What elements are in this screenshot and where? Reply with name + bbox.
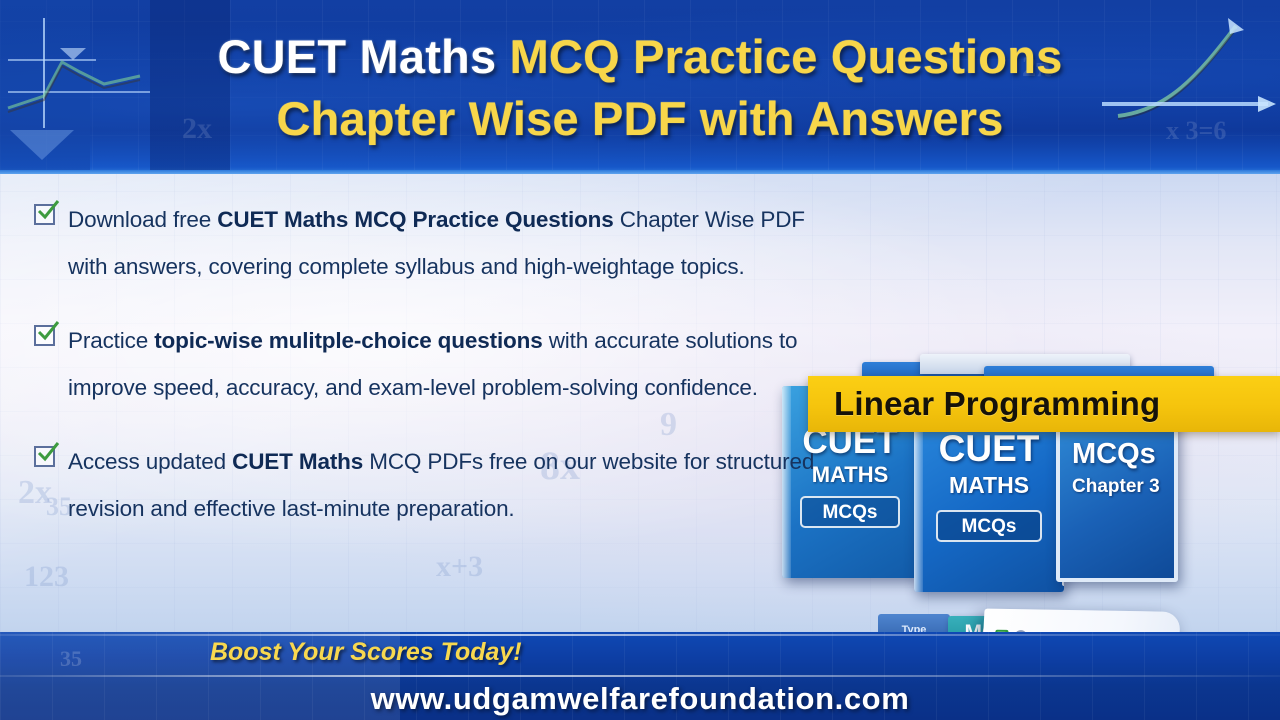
list-item: Access updated CUET Maths MCQ PDFs free … xyxy=(34,438,824,532)
title-line-1: CUET Maths MCQ Practice Questions xyxy=(0,26,1280,88)
bubble-checked-icon xyxy=(995,629,1009,632)
poster-title: CUET Maths MCQ Practice Questions Chapte… xyxy=(0,26,1280,150)
list-item: Download free CUET Maths MCQ Practice Qu… xyxy=(34,196,824,290)
answer-row: FY xyxy=(995,627,1170,632)
benefit-list: Download free CUET Maths MCQ Practice Qu… xyxy=(34,196,824,559)
highlight-banner: Linear Programming xyxy=(808,376,1280,432)
list-item: Practice topic-wise mulitple-choice ques… xyxy=(34,317,824,411)
checkbox-checked-icon xyxy=(34,325,55,346)
footer-hairline-top xyxy=(0,634,1280,636)
book-cover-3: MCQs Chapter 3 xyxy=(1056,410,1178,582)
book-2-subtitle: MATHS xyxy=(914,472,1064,499)
book-3-subtitle: Chapter 3 xyxy=(1060,476,1174,498)
highlight-banner-label: Linear Programming xyxy=(808,385,1160,423)
type-badge: Type xyxy=(878,614,950,632)
book-2-tag: MCQs xyxy=(936,510,1042,542)
list-item-text: Download free CUET Maths MCQ Practice Qu… xyxy=(68,196,824,290)
title-line-2: Chapter Wise PDF with Answers xyxy=(0,88,1280,150)
list-item-text: Access updated CUET Maths MCQ PDFs free … xyxy=(68,438,824,532)
list-item-text: Practice topic-wise mulitple-choice ques… xyxy=(68,317,824,411)
answer-sheet: FY E B D xyxy=(967,609,1180,632)
bubble-empty-icon xyxy=(1014,630,1028,632)
tagline: Boost Your Scores Today! xyxy=(210,638,522,667)
ghost-number-1: 123 xyxy=(24,560,69,594)
book-2-title: CUET xyxy=(914,428,1064,470)
website-url: www.udgamwelfarefoundation.com xyxy=(0,681,1280,717)
checkbox-checked-icon xyxy=(34,446,55,467)
book-3-title: MCQs xyxy=(1060,438,1174,471)
footer-ghost-number: 35 xyxy=(60,646,82,672)
checkbox-checked-icon xyxy=(34,204,55,225)
footer-hairline-mid xyxy=(0,675,1280,677)
promotional-poster: x 3=6 2x 2π CUET Maths MCQ Practice Ques… xyxy=(0,0,1280,720)
title-part-white: CUET Maths xyxy=(218,30,510,83)
poster-header: x 3=6 2x 2π CUET Maths MCQ Practice Ques… xyxy=(0,0,1280,174)
title-part-gold: MCQ Practice Questions xyxy=(510,30,1063,83)
